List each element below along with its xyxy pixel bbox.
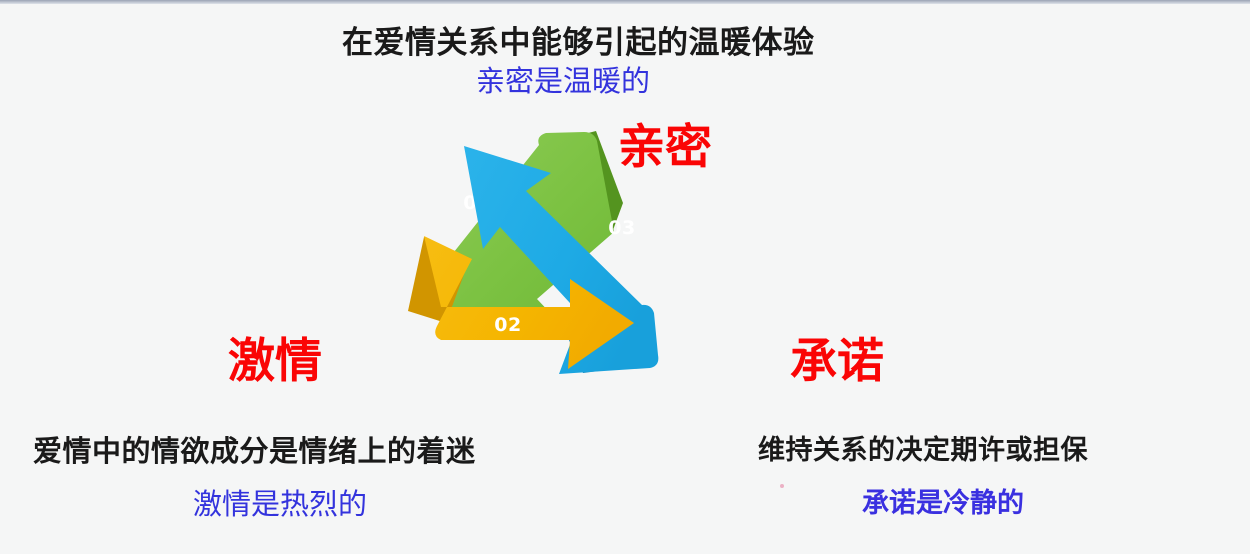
blue-arrow-number: 03: [608, 217, 635, 239]
passion-description: 爱情中的情欲成分是情绪上的着迷: [33, 428, 476, 470]
passion-subtitle: 激情是热烈的: [193, 481, 367, 523]
commitment-subtitle: 承诺是冷静的: [862, 481, 1024, 520]
commitment-description: 维持关系的决定期许或担保: [758, 428, 1088, 467]
window-chrome-bar: [0, 0, 1250, 4]
intimacy-subtitle: 亲密是温暖的: [476, 58, 650, 100]
commitment-label: 承诺: [790, 322, 884, 391]
passion-label: 激情: [228, 322, 322, 391]
yellow-arrow-number: 02: [494, 314, 521, 336]
pink-speck-artifact: [780, 484, 784, 488]
page-title: 在爱情关系中能够引起的温暖体验: [342, 17, 815, 62]
intimacy-label: 亲密: [618, 108, 712, 177]
slide-canvas: 在爱情关系中能够引起的温暖体验 亲密是温暖的: [0, 0, 1250, 554]
